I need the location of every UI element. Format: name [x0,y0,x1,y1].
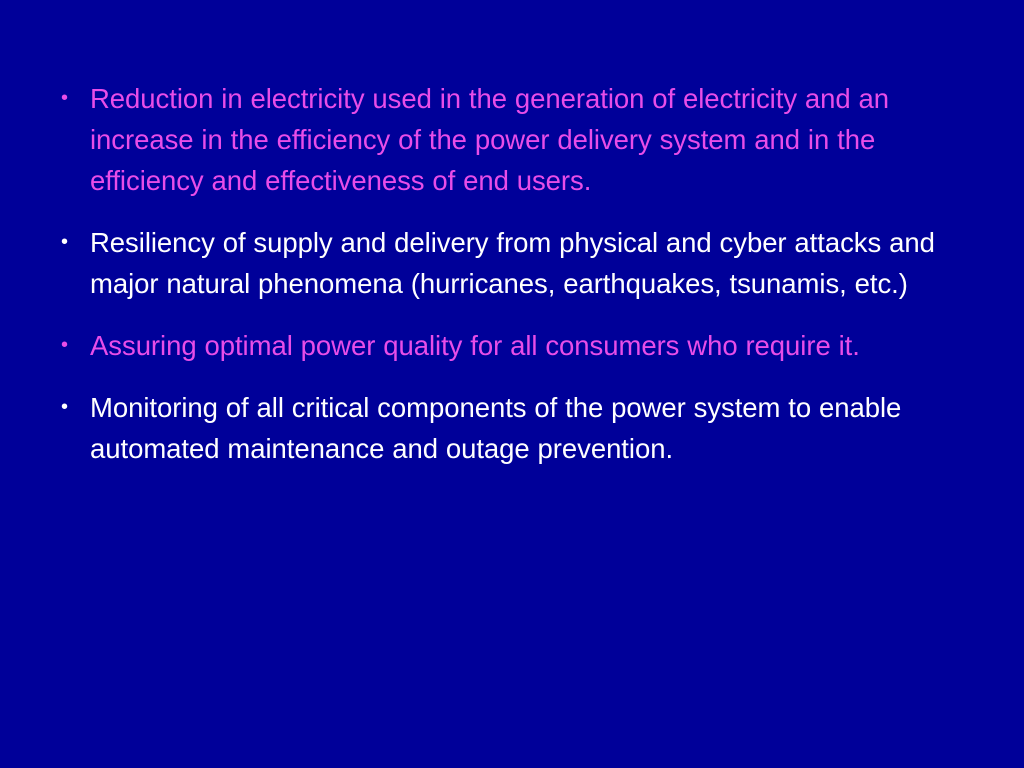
bullet-text-4: Monitoring of all critical components of… [90,387,986,469]
bullet-point-icon: • [56,222,90,263]
bullet-list: • Reduction in electricity used in the g… [56,78,986,490]
bullet-text-3: Assuring optimal power quality for all c… [90,325,986,366]
bullet-point-icon: • [56,78,90,119]
bullet-item-1: • Reduction in electricity used in the g… [56,78,986,201]
presentation-slide: • Reduction in electricity used in the g… [0,0,1024,768]
bullet-item-3: • Assuring optimal power quality for all… [56,325,986,366]
bullet-point-icon: • [56,387,90,428]
bullet-item-2: • Resiliency of supply and delivery from… [56,222,986,304]
bullet-text-2: Resiliency of supply and delivery from p… [90,222,986,304]
bullet-point-icon: • [56,325,90,366]
bullet-text-1: Reduction in electricity used in the gen… [90,78,986,201]
bullet-item-4: • Monitoring of all critical components … [56,387,986,469]
